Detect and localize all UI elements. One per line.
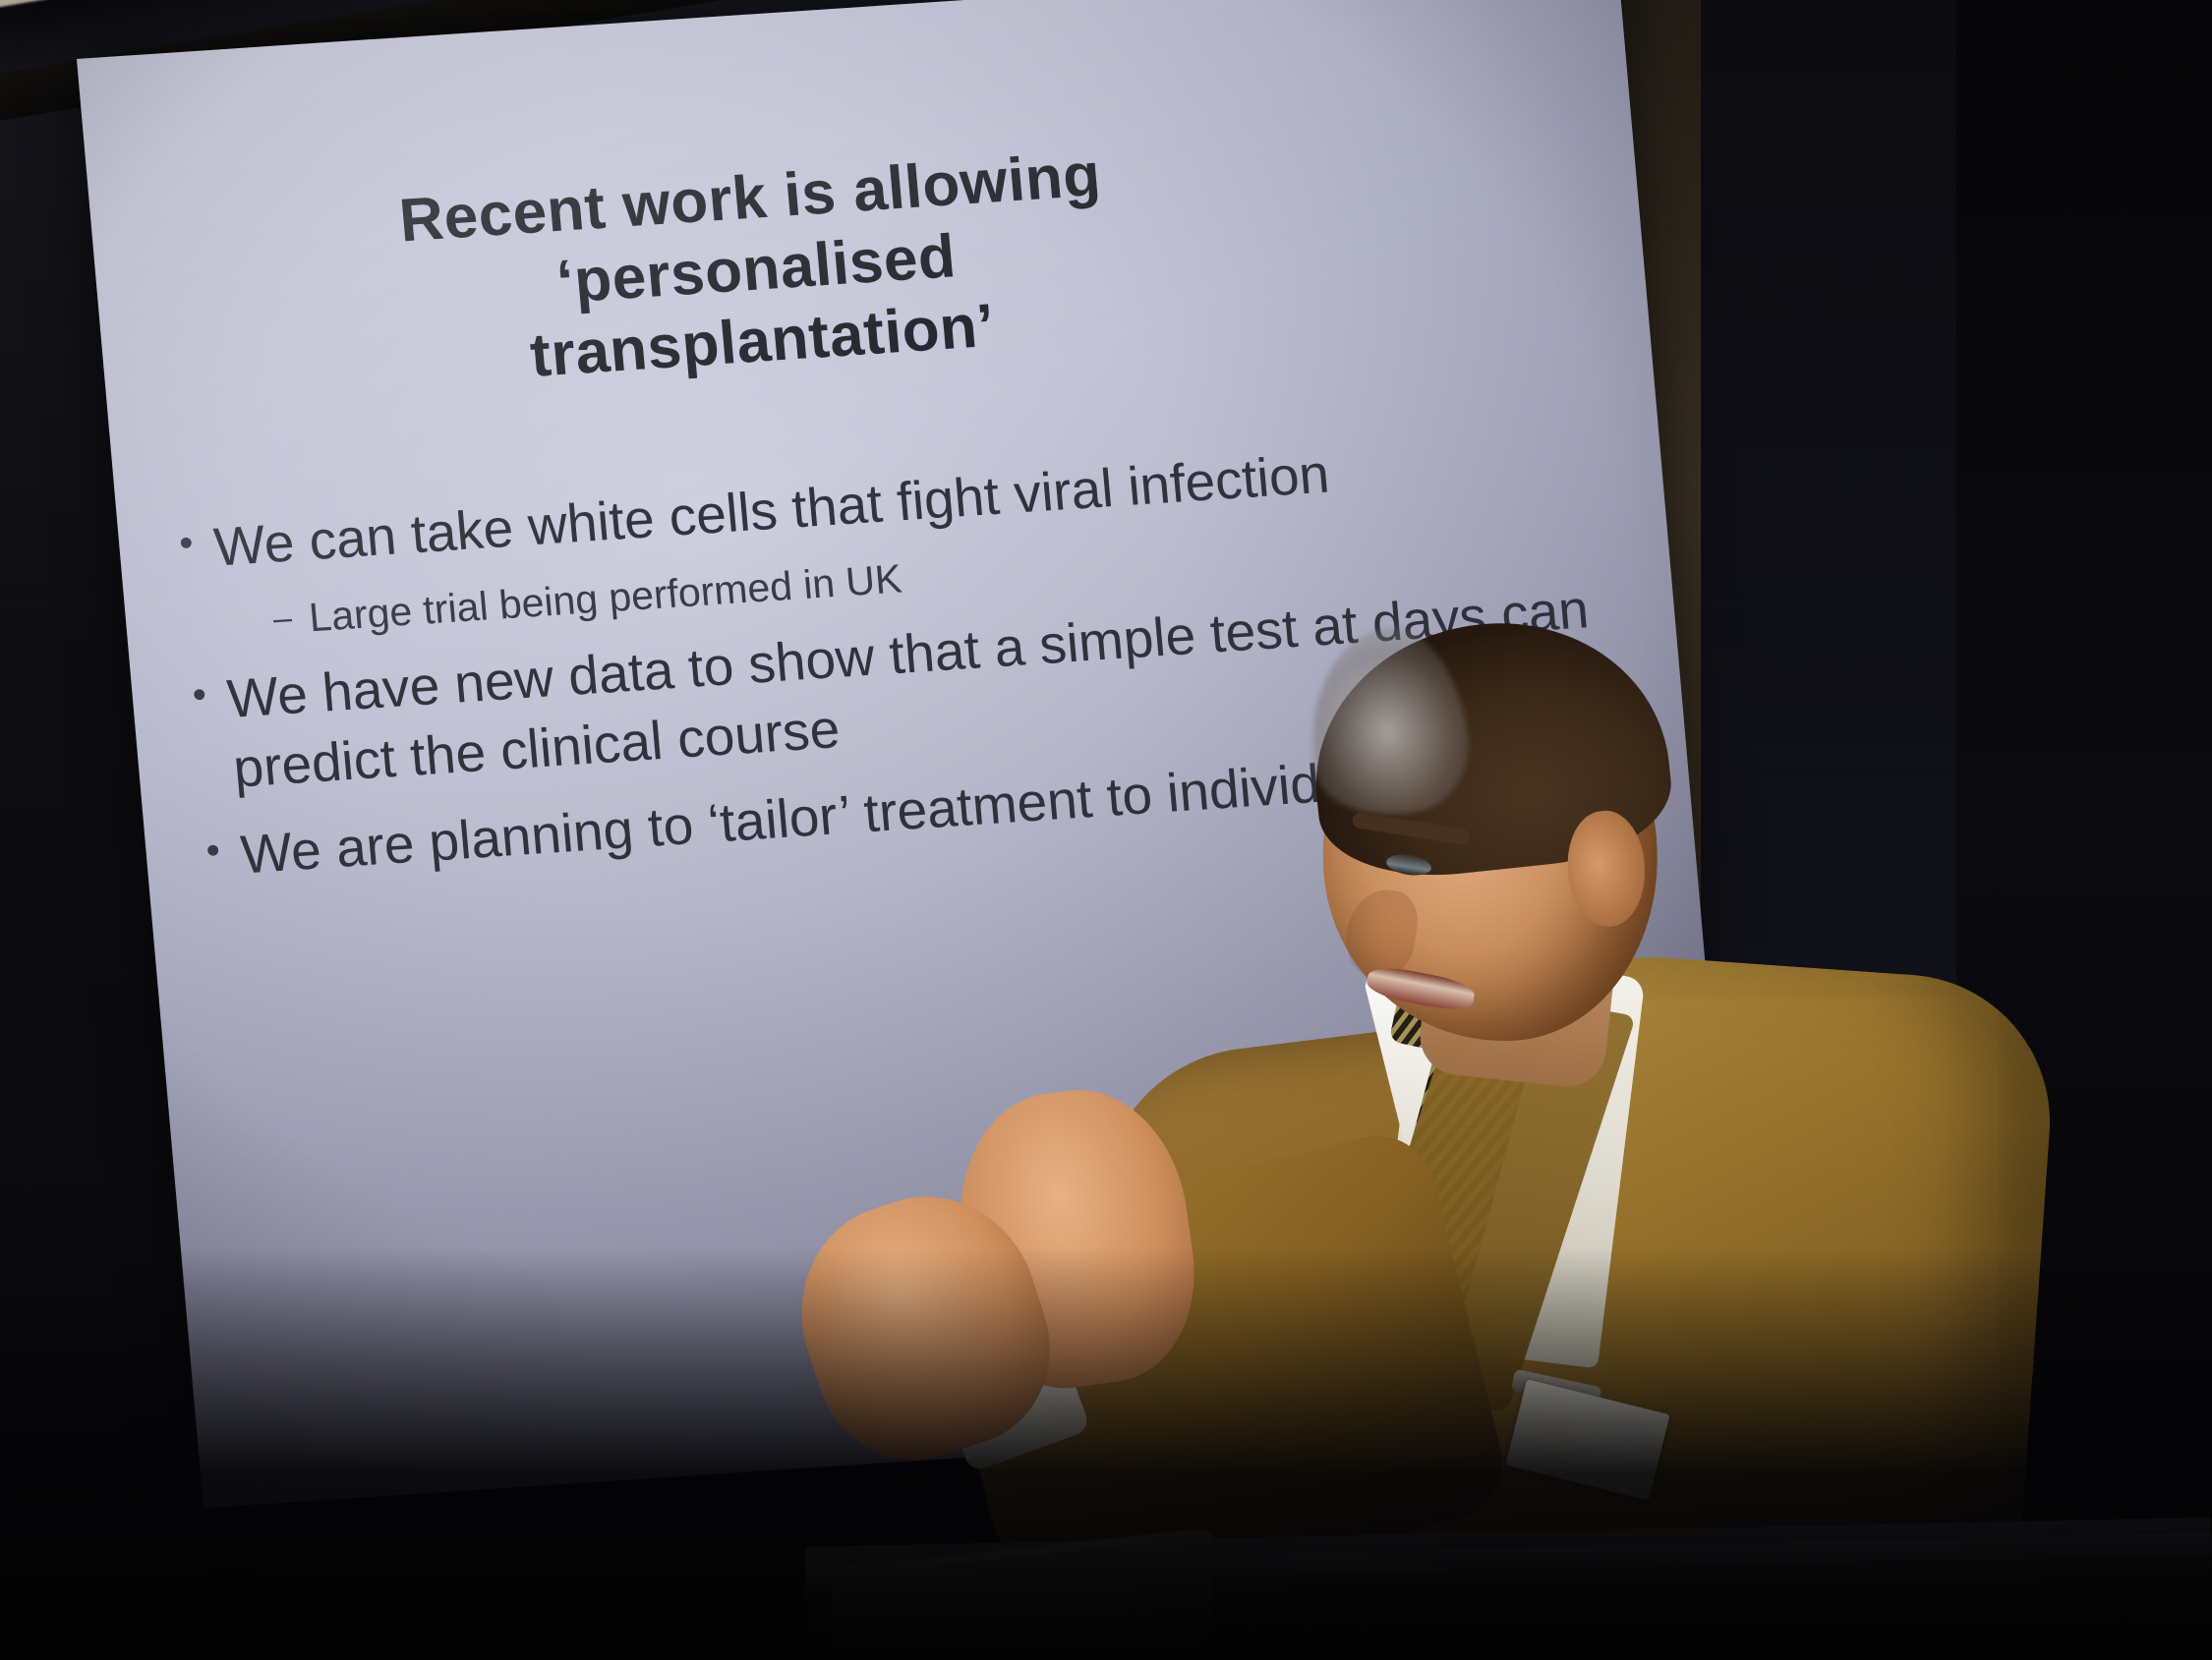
bullet-marker-icon: • bbox=[156, 513, 216, 573]
presentation-photo-scene: Recent work is allowing ‘personalised tr… bbox=[0, 0, 2212, 1660]
bullet-marker-icon: • bbox=[183, 820, 243, 880]
bullet-marker-icon: • bbox=[169, 664, 229, 724]
foreground-shadow bbox=[0, 1247, 2212, 1660]
dash-marker-icon: – bbox=[254, 593, 311, 645]
slide-title: Recent work is allowing ‘personalised tr… bbox=[207, 127, 1306, 414]
